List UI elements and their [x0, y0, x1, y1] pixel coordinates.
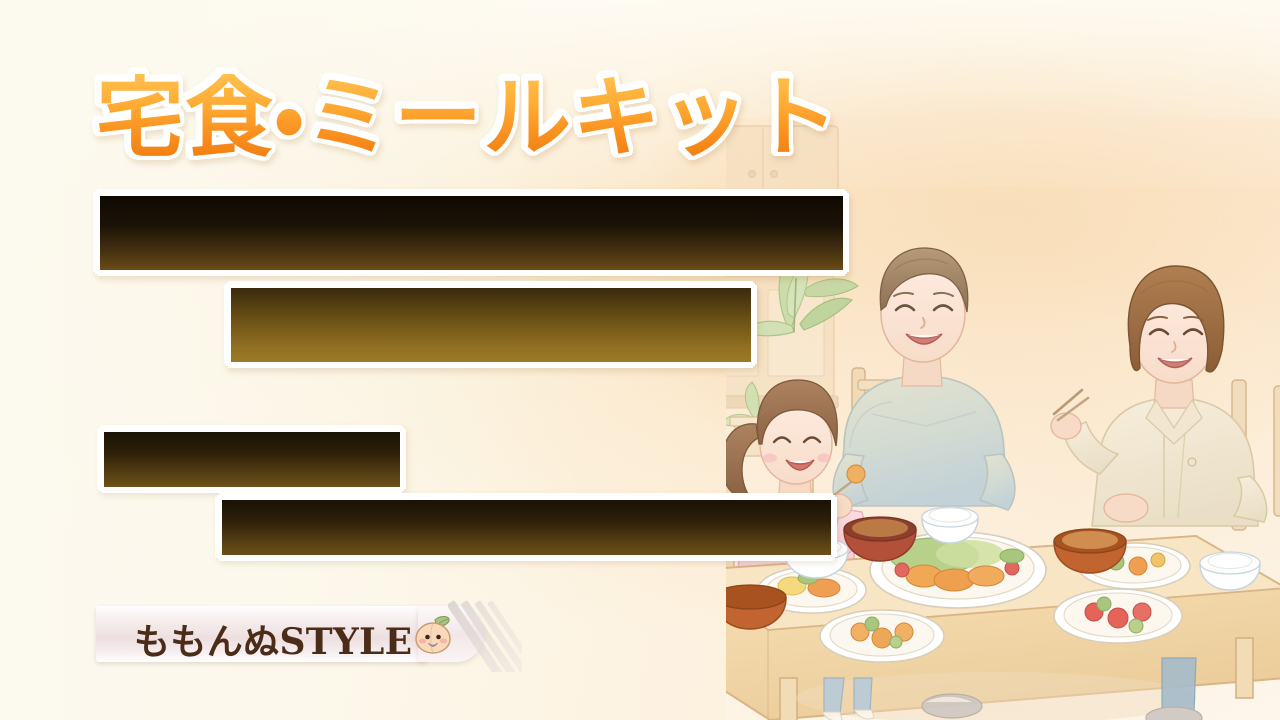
hero-subtitle-line-2: 私にはどっち？	[231, 288, 751, 362]
peach-mascot-icon	[412, 614, 454, 656]
ribbon-tail-icon	[448, 600, 522, 672]
hero-title: 宅食・ミールキット	[96, 74, 839, 162]
hero-tagline-line-1: 〜料金・手間	[104, 432, 400, 487]
hero-banner: 宅食・ミールキット 暮らしタイプ別に選ぶ 私にはどっち？ 〜料金・手間 心の余裕…	[0, 0, 1280, 720]
brand-badge[interactable]: ももんぬSTYLE	[96, 604, 516, 666]
tomato-salad-plate	[1054, 589, 1182, 643]
badge-label: ももんぬSTYLE	[134, 613, 412, 665]
hero-tagline-line-2: 心の余裕で選ぶ最適解〜	[222, 500, 831, 555]
hero-subtitle-line-1: 暮らしタイプ別に選ぶ	[100, 196, 843, 270]
